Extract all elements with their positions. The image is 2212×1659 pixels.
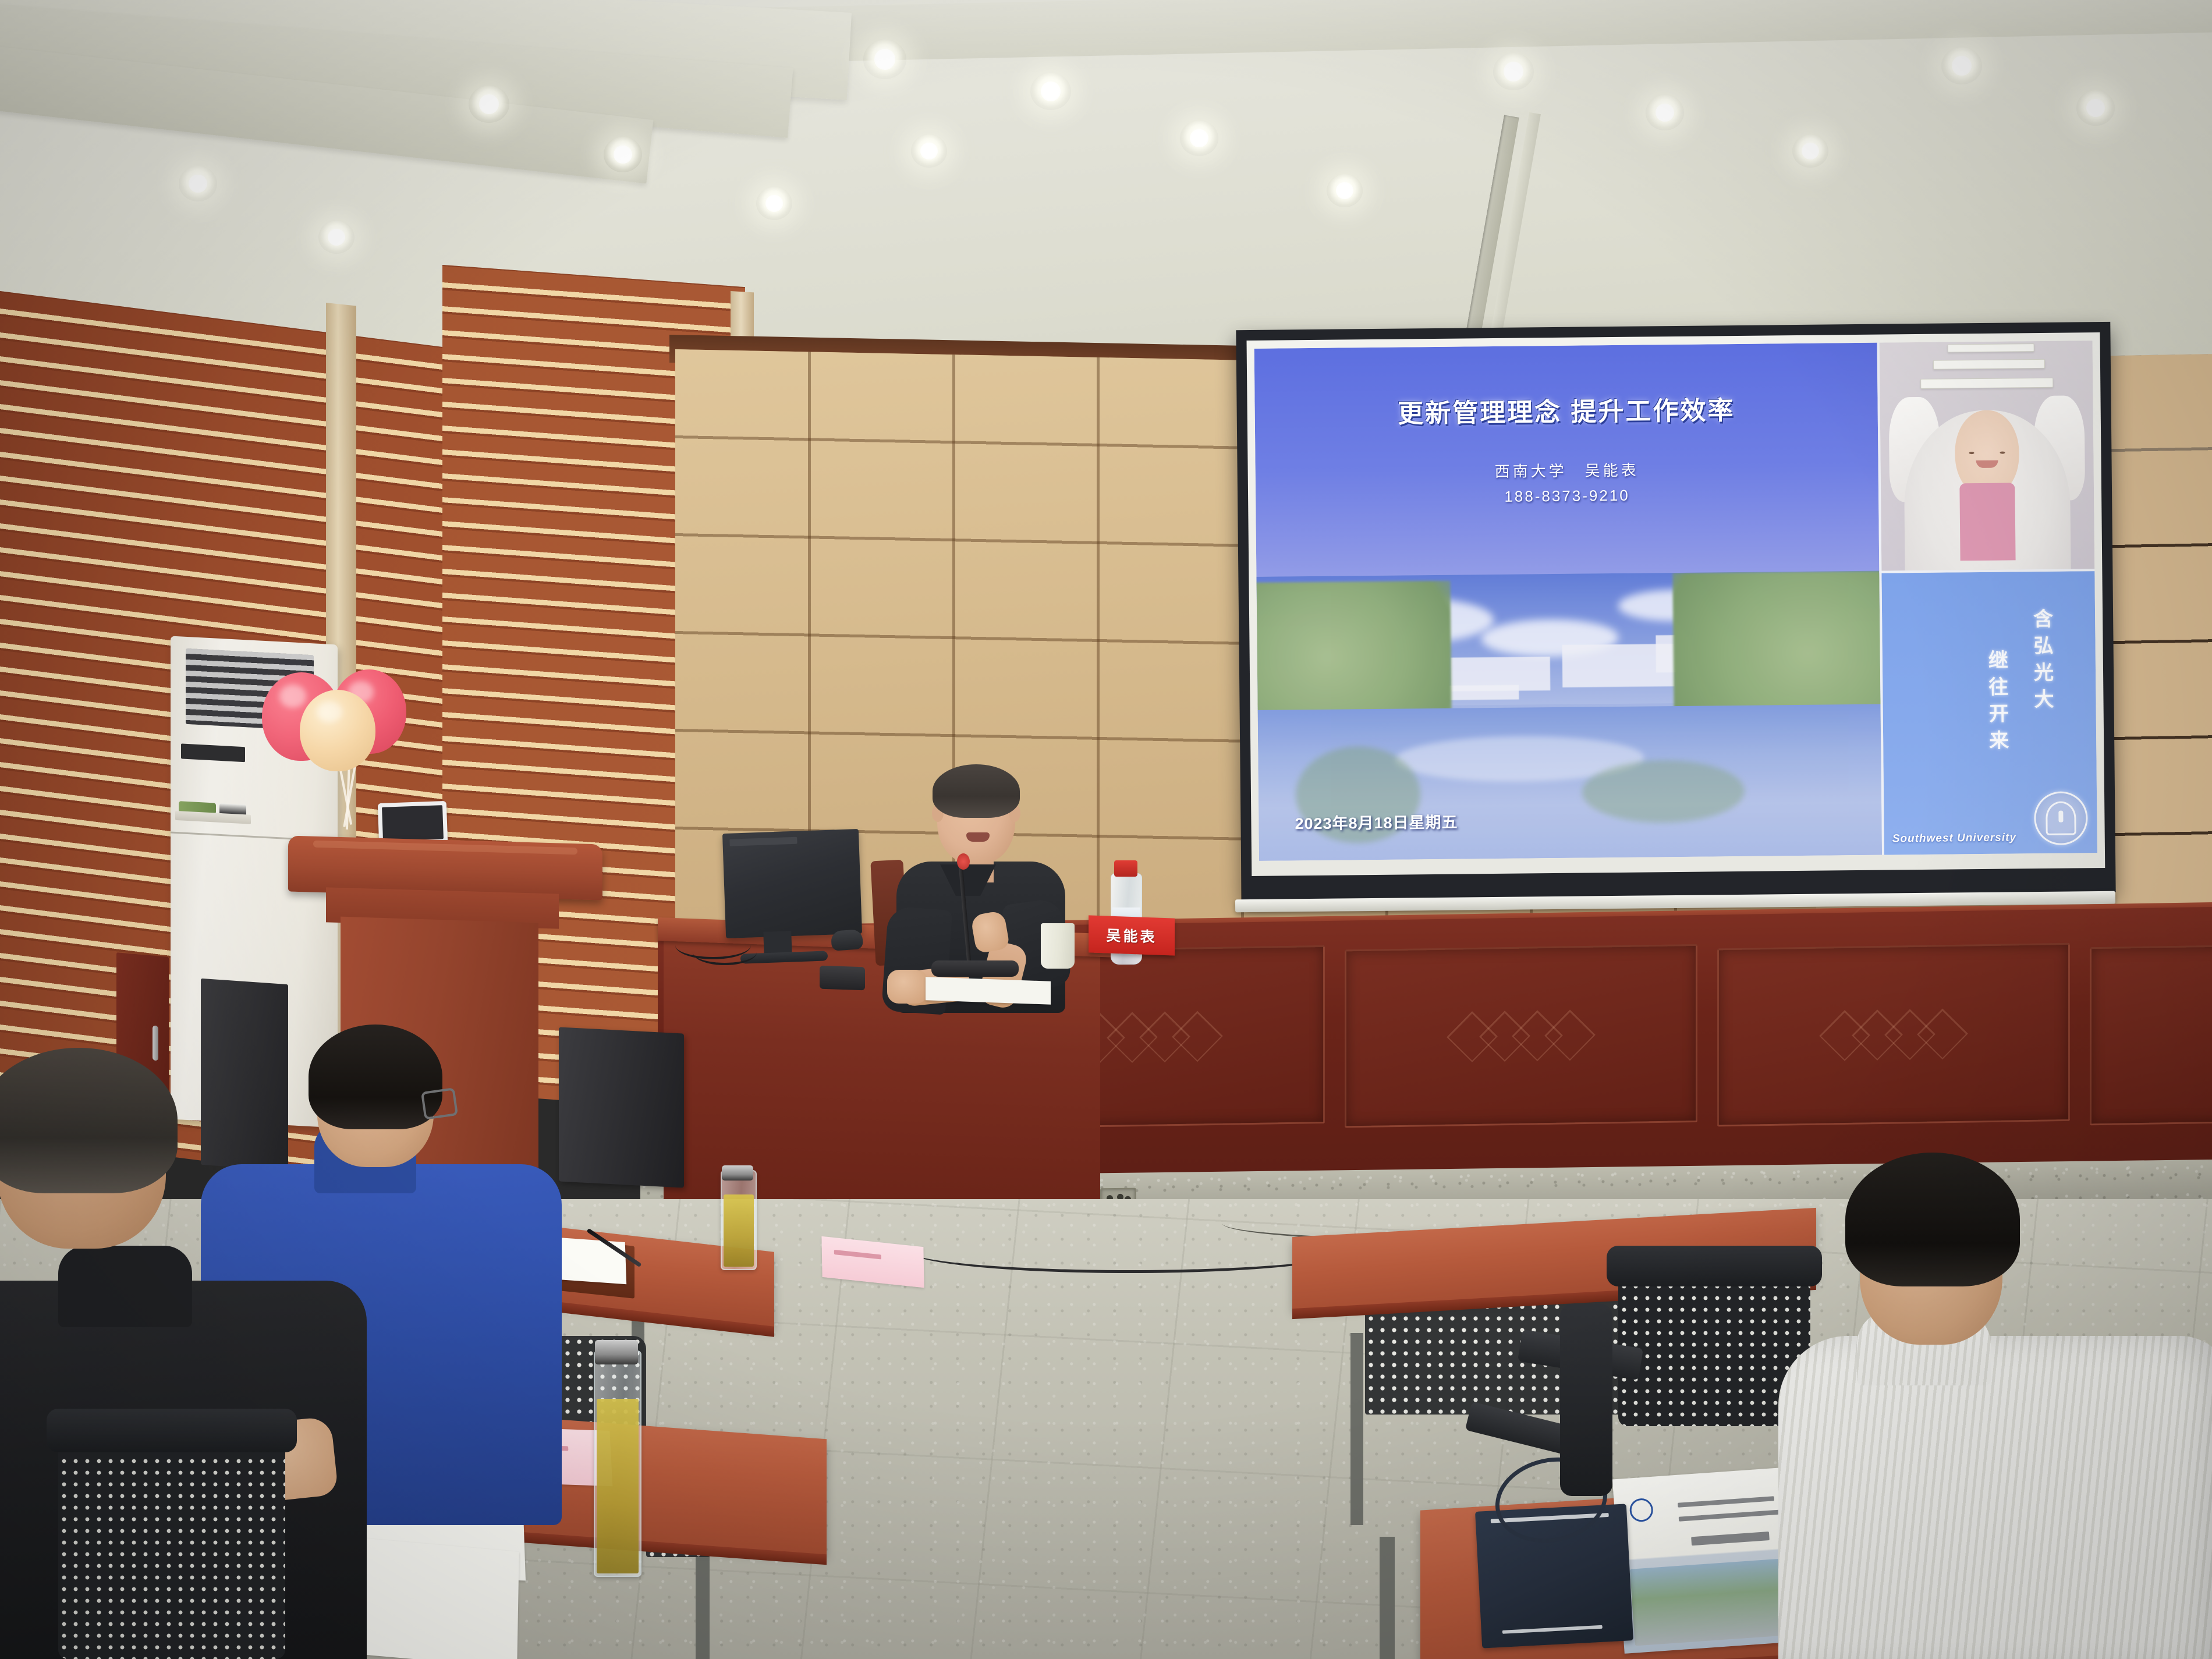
slide-main-panel: 更新管理理念 提升工作效率 西南大学 吴能表 188-8373-9210 202… — [1254, 343, 1882, 861]
ceiling-downlight — [318, 221, 355, 254]
ac-display-slot — [181, 743, 245, 762]
conference-room-photo: 更新管理理念 提升工作效率 西南大学 吴能表 188-8373-9210 202… — [0, 0, 2212, 1659]
calligraphy-column-1: 含 弘 光 大 — [2033, 607, 2054, 714]
ceiling-downlight — [1941, 47, 1982, 84]
calligraphy-char: 大 — [2034, 686, 2054, 713]
tea-bottle-cap — [595, 1340, 638, 1364]
stage-panel — [1345, 944, 1697, 1128]
chair-top-bar-front-left — [47, 1409, 297, 1452]
calligraphy-panel: 含 弘 光 大 继 往 开 来 Southwest University — [1879, 569, 2097, 855]
presenter-left-hand — [887, 970, 928, 1004]
ceiling-downlight — [1493, 53, 1534, 90]
water-bottle-cap — [1114, 860, 1137, 877]
microphone-base — [931, 960, 1019, 977]
microphone-icon[interactable] — [957, 853, 970, 870]
presenter-papers — [926, 977, 1051, 1005]
ceiling-downlight — [863, 40, 906, 79]
ceiling-downlight — [756, 187, 792, 220]
presenter-mouth — [966, 832, 990, 842]
slide-title: 更新管理理念 提升工作效率 — [1254, 388, 1878, 431]
attendee-white-shirt-hair — [1845, 1153, 2020, 1286]
nameplate-label: 吴能表 — [1106, 924, 1157, 947]
calligraphy-char: 弘 — [2033, 633, 2053, 660]
calligraphy-char: 光 — [2034, 660, 2054, 687]
chair-top-bar-back-right — [1607, 1246, 1822, 1286]
calligraphy-char: 开 — [1989, 701, 2009, 728]
ceiling-downlight — [1327, 174, 1363, 207]
ceiling-downlight — [911, 134, 947, 168]
balloon-cream — [300, 690, 375, 771]
screen-mat: 更新管理理念 提升工作效率 西南大学 吴能表 188-8373-9210 202… — [1247, 332, 2105, 876]
stage-panel — [2090, 945, 2212, 1126]
stage-panel — [1717, 943, 2070, 1127]
computer-mouse[interactable] — [831, 929, 863, 951]
desk-leg — [1350, 1333, 1363, 1525]
chair-post-right — [1560, 1304, 1612, 1496]
attendee-white-shirt-torso — [1778, 1336, 2212, 1659]
slide-date: 2023年8月18日星期五 — [1295, 810, 1458, 834]
tea-bottle-front[interactable] — [594, 1350, 641, 1577]
attendee-blue-polo-hair — [309, 1025, 442, 1129]
calligraphy-char: 来 — [1989, 728, 2009, 754]
ceiling-downlight — [1646, 95, 1684, 130]
ceiling-downlight — [1792, 134, 1828, 168]
paper-cup[interactable] — [1041, 923, 1075, 969]
attendee-glasses-icon — [421, 1087, 458, 1120]
ceiling-downlight — [1180, 120, 1218, 156]
presenter-hair — [933, 764, 1020, 818]
floor-speaker-left — [201, 979, 288, 1171]
projection-screen[interactable]: 更新管理理念 提升工作效率 西南大学 吴能表 188-8373-9210 202… — [1236, 322, 2115, 901]
presentation-slide: 更新管理理念 提升工作效率 西南大学 吴能表 188-8373-9210 202… — [1254, 341, 2097, 861]
calligraphy-char: 含 — [2033, 607, 2053, 633]
calligraphy-char: 继 — [1988, 648, 2008, 675]
calligraphy-char: 往 — [1988, 674, 2008, 701]
calligraphy-column-2: 继 往 开 来 — [1988, 648, 2009, 755]
slide-speaker: 西南大学 吴能表 — [1256, 456, 1878, 484]
ceiling-downlight — [2076, 90, 2115, 126]
ceiling-downlight — [179, 166, 217, 201]
southwest-university-seal-icon — [2034, 791, 2088, 845]
tea-bottle-cap — [722, 1165, 753, 1181]
child-with-books-photo — [1877, 341, 2095, 571]
ceiling-downlight — [1030, 73, 1071, 110]
tea-bottle-back[interactable] — [721, 1170, 757, 1270]
chair-mesh-front-left[interactable] — [58, 1432, 285, 1659]
presenter-nameplate: 吴能表 — [1089, 915, 1175, 955]
ceiling-downlight — [604, 137, 642, 172]
floor-speaker-stage — [559, 1027, 684, 1187]
computer-monitor[interactable] — [722, 829, 862, 938]
cable — [693, 940, 757, 965]
ceiling-downlight — [469, 86, 509, 123]
slide-phone: 188-8373-9210 — [1256, 484, 1878, 508]
desk-device[interactable] — [820, 966, 865, 991]
booklet-logo-icon — [1629, 1498, 1654, 1523]
university-name-en: Southwest University — [1892, 831, 2016, 845]
attendee-black-polo-collar — [58, 1246, 192, 1327]
desk-leg — [1380, 1537, 1395, 1659]
